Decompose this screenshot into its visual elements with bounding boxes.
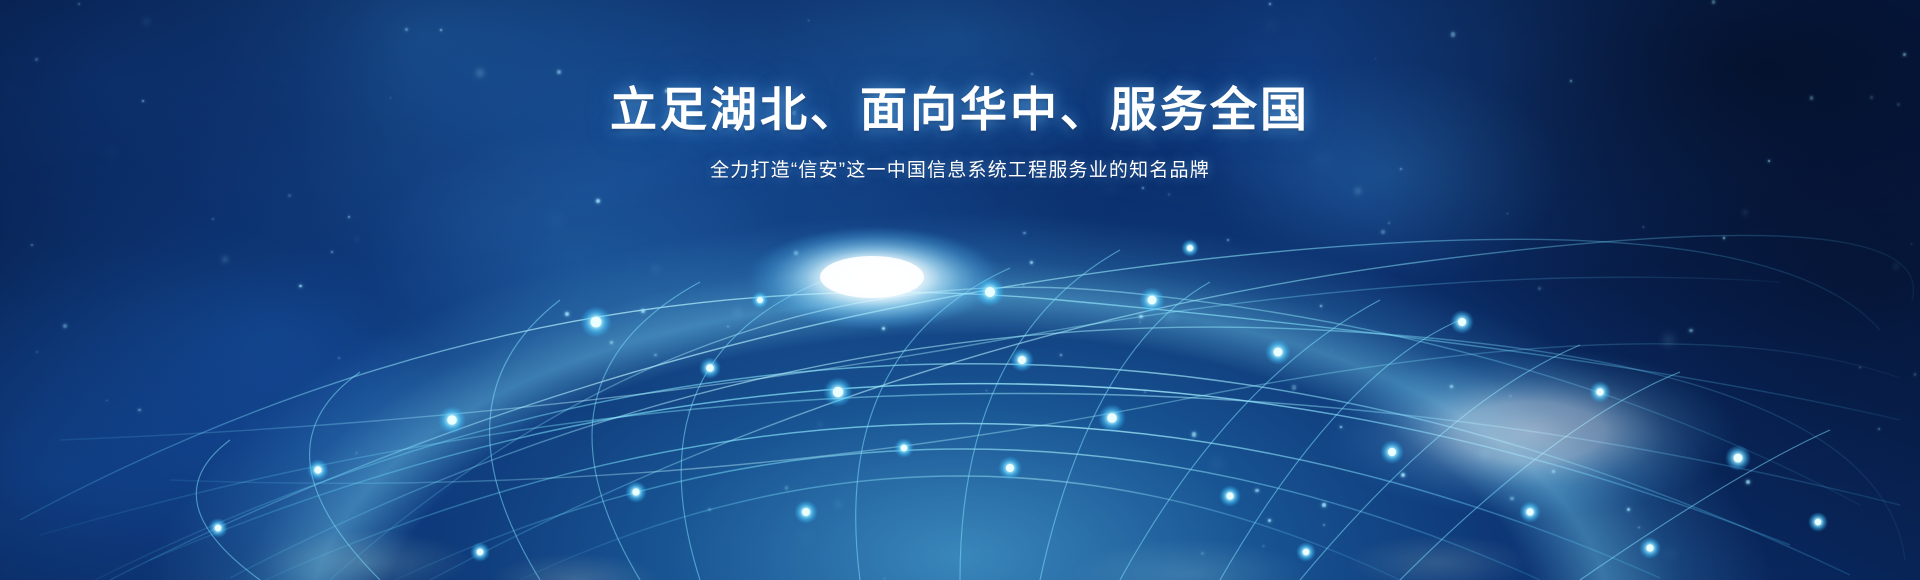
light-particle [1451, 32, 1455, 36]
light-particle [819, 424, 821, 426]
light-particle [727, 326, 729, 328]
light-particle [1139, 315, 1142, 318]
hero-banner: 立足湖北、面向华中、服务全国 全力打造“信安”这一中国信息系统工程服务业的知名品… [0, 0, 1920, 580]
light-particle [356, 238, 358, 240]
light-particle [882, 327, 885, 330]
light-particle [1483, 453, 1486, 456]
light-particle [1643, 226, 1644, 227]
light-particle [145, 20, 148, 23]
light-particle [808, 20, 809, 21]
light-particle [1270, 24, 1272, 26]
light-particle [1538, 287, 1541, 290]
light-particle [251, 421, 253, 423]
light-particle [288, 194, 291, 197]
light-particle [1627, 508, 1630, 511]
light-particle [212, 218, 214, 220]
light-particle [1192, 432, 1197, 437]
light-particle [1689, 329, 1692, 332]
light-particle [1746, 480, 1750, 484]
light-particle [1911, 243, 1913, 245]
light-particle [1723, 237, 1725, 239]
light-particle [1895, 265, 1897, 267]
light-particle [36, 351, 38, 353]
light-particle [348, 216, 351, 219]
light-particle [1552, 470, 1555, 473]
light-particle [98, 517, 100, 519]
light-particle [1023, 232, 1025, 234]
light-particle [1201, 552, 1204, 555]
light-particle [1108, 183, 1112, 187]
light-particle [1142, 187, 1144, 189]
light-particle [884, 578, 885, 579]
light-particle [405, 28, 408, 31]
light-particle [1509, 395, 1511, 397]
light-particle [356, 452, 357, 453]
light-particle [1144, 391, 1146, 393]
light-particle [1215, 462, 1218, 465]
light-particle [1331, 349, 1333, 351]
light-particle [557, 70, 561, 74]
light-particle [1023, 284, 1024, 285]
light-particle [365, 555, 366, 556]
light-particle [331, 251, 333, 253]
light-particle [1638, 527, 1640, 529]
banner-subtitle: 全力打造“信安”这一中国信息系统工程服务业的知名品牌 [0, 155, 1920, 182]
light-particle [338, 357, 340, 359]
light-particle [688, 410, 689, 411]
light-particle [1878, 428, 1880, 430]
light-particle [299, 285, 302, 288]
light-particle [708, 508, 711, 511]
light-particle [1323, 524, 1325, 526]
light-particle [1859, 367, 1861, 369]
light-particle [1269, 3, 1271, 5]
light-particle [1340, 426, 1342, 428]
light-particle [1744, 211, 1746, 213]
light-particle [1669, 552, 1672, 555]
light-particle [610, 341, 613, 344]
light-particle [1255, 489, 1259, 493]
light-particle [785, 486, 789, 490]
light-particle [1667, 338, 1671, 342]
light-particle [1060, 354, 1062, 356]
light-particle [1030, 261, 1034, 265]
light-particle [1227, 239, 1229, 241]
light-particle [1262, 545, 1265, 548]
light-particle [1139, 321, 1141, 323]
light-particle [106, 400, 107, 401]
light-particle [1320, 305, 1323, 308]
light-particle [596, 199, 600, 203]
light-particle [906, 360, 907, 361]
light-particle [1168, 193, 1171, 196]
light-particle [478, 71, 482, 75]
light-particle [440, 29, 442, 31]
light-particle [804, 536, 806, 538]
light-particle [1914, 373, 1917, 376]
light-particle [837, 503, 840, 506]
light-particle [555, 219, 558, 222]
light-particle [1388, 222, 1390, 224]
light-particle [1507, 213, 1508, 214]
light-particle [1375, 58, 1376, 59]
light-particle [654, 354, 657, 357]
banner-text-block: 立足湖北、面向华中、服务全国 全力打造“信安”这一中国信息系统工程服务业的知名品… [0, 82, 1920, 182]
light-particle [1401, 473, 1406, 478]
light-particle [794, 251, 797, 254]
light-particle [736, 311, 739, 314]
page-title: 立足湖北、面向华中、服务全国 [0, 82, 1920, 137]
light-particle [1903, 53, 1906, 56]
light-particle [1356, 189, 1359, 192]
light-particle [78, 3, 79, 4]
light-particle [1169, 316, 1172, 319]
light-particle [1381, 230, 1385, 234]
light-particle [986, 390, 987, 391]
light-particle [1712, 0, 1715, 3]
light-particle [31, 244, 33, 246]
light-particle [1322, 503, 1326, 507]
light-particle [138, 409, 141, 412]
light-particle [565, 312, 569, 316]
light-particle [654, 267, 657, 270]
light-particle [1031, 73, 1033, 75]
light-particle [1660, 26, 1661, 27]
light-particle [224, 258, 227, 261]
light-particle [63, 324, 67, 328]
light-particle [1450, 385, 1453, 388]
light-particle [35, 58, 38, 61]
light-particle [1268, 519, 1271, 522]
light-particle [1292, 385, 1296, 389]
light-particle [1510, 497, 1513, 500]
light-particle [641, 309, 645, 313]
